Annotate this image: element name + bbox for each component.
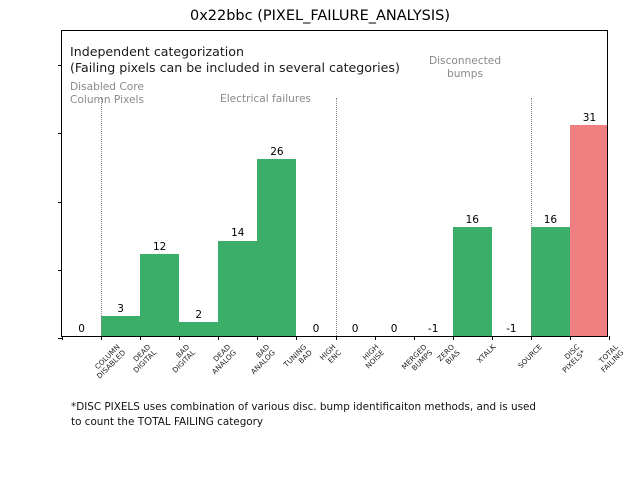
x-tick-label: HIGHNOISE	[359, 343, 387, 371]
x-tick-label: BADDIGITAL	[165, 343, 197, 375]
x-tick-mark	[336, 336, 337, 340]
x-tick-mark	[453, 336, 454, 340]
category-divider-line	[336, 98, 337, 336]
bar-value-label: 3	[117, 303, 124, 315]
y-tick-mark	[58, 133, 62, 134]
x-tick-label: BADANALOG	[244, 343, 278, 377]
bar[interactable]	[101, 316, 140, 336]
x-tick-mark	[375, 336, 376, 340]
bar-value-label: 0	[78, 323, 85, 335]
bar[interactable]	[531, 227, 570, 336]
x-tick-mark	[101, 336, 102, 340]
annotation-disabled-core-column-pixels: Disabled Core Column Pixels	[70, 81, 144, 108]
x-tick-mark	[492, 336, 493, 340]
y-tick-mark	[58, 202, 62, 203]
bar-value-label: -1	[506, 323, 516, 335]
x-tick-mark	[531, 336, 532, 340]
x-tick-mark	[62, 336, 63, 340]
bar-value-label: 0	[313, 323, 320, 335]
x-tick-mark	[414, 336, 415, 340]
bar-value-label: 0	[352, 323, 359, 335]
bar[interactable]	[257, 159, 296, 336]
bar-value-label: 0	[391, 323, 398, 335]
annotation-electrical-failures: Electrical failures	[220, 93, 311, 106]
bar-value-label: 14	[231, 227, 244, 239]
x-tick-mark	[257, 336, 258, 340]
x-tick-label: SOURCE	[517, 343, 544, 370]
x-tick-mark	[570, 336, 571, 340]
annotation-independent-categorization: Independent categorization (Failing pixe…	[70, 44, 400, 76]
x-tick-label: DEADANALOG	[205, 343, 239, 377]
bar-value-label: 2	[195, 309, 202, 321]
x-tick-label: XTALK	[476, 343, 498, 365]
chart-title: 0x22bbc (PIXEL_FAILURE_ANALYSIS)	[0, 8, 640, 24]
bar[interactable]	[570, 125, 607, 336]
bar-value-label: 16	[544, 214, 557, 226]
x-tick-mark	[296, 336, 297, 340]
x-tick-mark	[218, 336, 219, 340]
bar[interactable]	[218, 241, 257, 337]
bar[interactable]	[140, 254, 179, 336]
plot-area: 010203040 031221426000-116-11631	[61, 30, 608, 337]
figure-canvas: 0x22bbc (PIXEL_FAILURE_ANALYSIS) Number …	[0, 0, 640, 480]
bar[interactable]	[453, 227, 492, 336]
y-tick-mark	[58, 65, 62, 66]
x-tick-label: DEADDIGITAL	[126, 343, 158, 375]
x-tick-label: TUNINGBAD	[282, 343, 314, 375]
category-divider-line	[101, 98, 102, 336]
x-tick-label: ZEROBIAS	[436, 343, 463, 370]
x-tick-label: DISCPIXELS*	[556, 343, 588, 375]
x-tick-label: COLUMNDISABLED	[89, 343, 127, 381]
bar-value-label: 31	[583, 112, 596, 124]
x-tick-label: MERGEDBUMPS	[400, 343, 435, 378]
x-tick-label: TOTALFAILING	[595, 343, 627, 375]
bar-value-label: 26	[270, 146, 283, 158]
category-divider-line	[531, 98, 532, 336]
bar-value-label: -1	[428, 323, 438, 335]
annotation-disconnected-bumps: Disconnected bumps	[429, 55, 501, 82]
x-tick-mark	[140, 336, 141, 340]
bar-value-label: 12	[153, 241, 166, 253]
y-tick-mark	[58, 270, 62, 271]
bar-value-label: 16	[466, 214, 479, 226]
x-tick-label: HIGHENC	[318, 343, 343, 368]
x-tick-mark	[609, 336, 610, 340]
x-tick-mark	[179, 336, 180, 340]
plot-inner	[62, 31, 607, 336]
footnote-text: *DISC PIXELS uses combination of various…	[71, 400, 601, 430]
bar[interactable]	[179, 322, 218, 336]
